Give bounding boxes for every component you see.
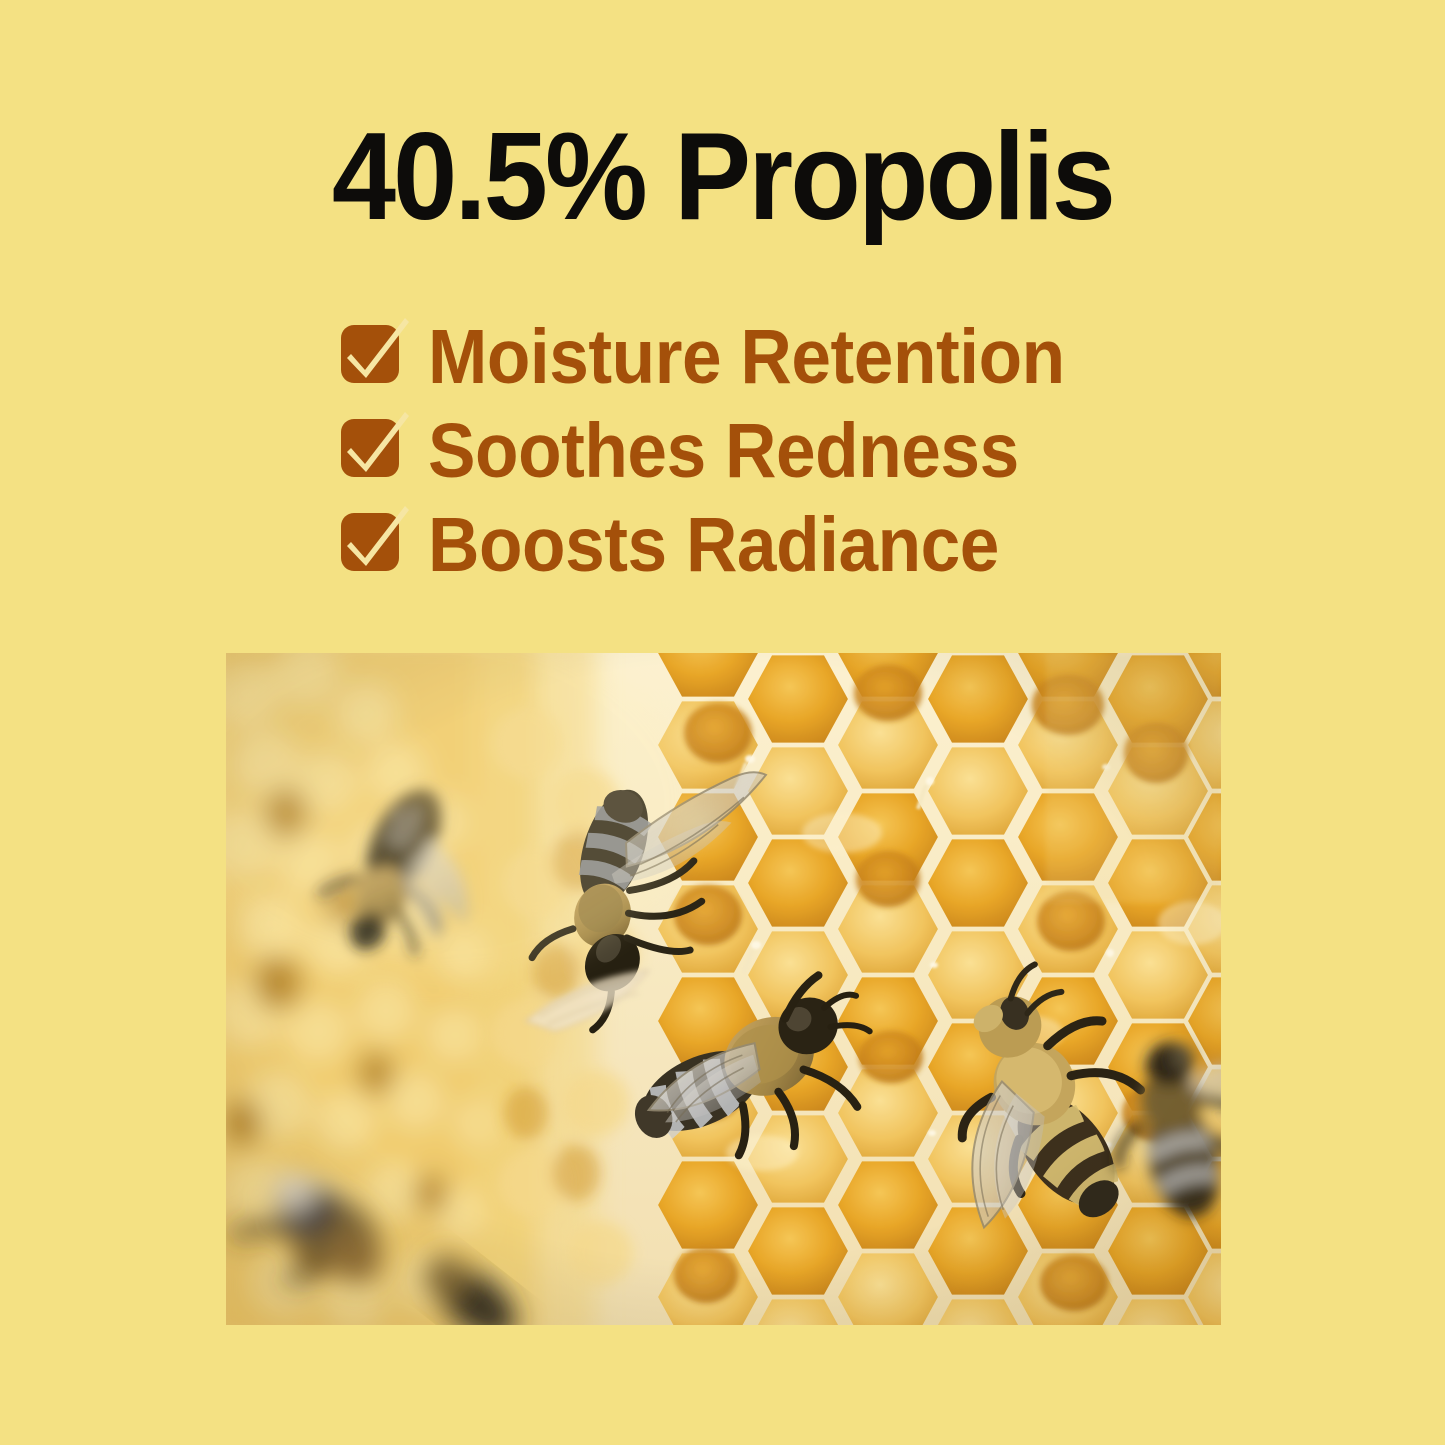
checkbox-checked-icon — [341, 419, 399, 477]
benefit-label: Moisture Retention — [428, 318, 1065, 396]
checkbox-checked-icon — [341, 513, 399, 571]
benefit-label: Soothes Redness — [428, 412, 1019, 490]
list-item: Soothes Redness — [341, 412, 1241, 506]
propolis-product-infographic: 40.5% Propolis Moisture Retention Soothe… — [0, 0, 1445, 1445]
honeycomb-with-bees-photo — [226, 653, 1221, 1325]
list-item: Moisture Retention — [341, 318, 1241, 412]
page-title: 40.5% Propolis — [51, 118, 1395, 236]
list-item: Boosts Radiance — [341, 506, 1241, 600]
benefit-list: Moisture Retention Soothes Redness Boost… — [341, 318, 1241, 600]
checkbox-checked-icon — [341, 325, 399, 383]
benefit-label: Boosts Radiance — [428, 506, 999, 584]
